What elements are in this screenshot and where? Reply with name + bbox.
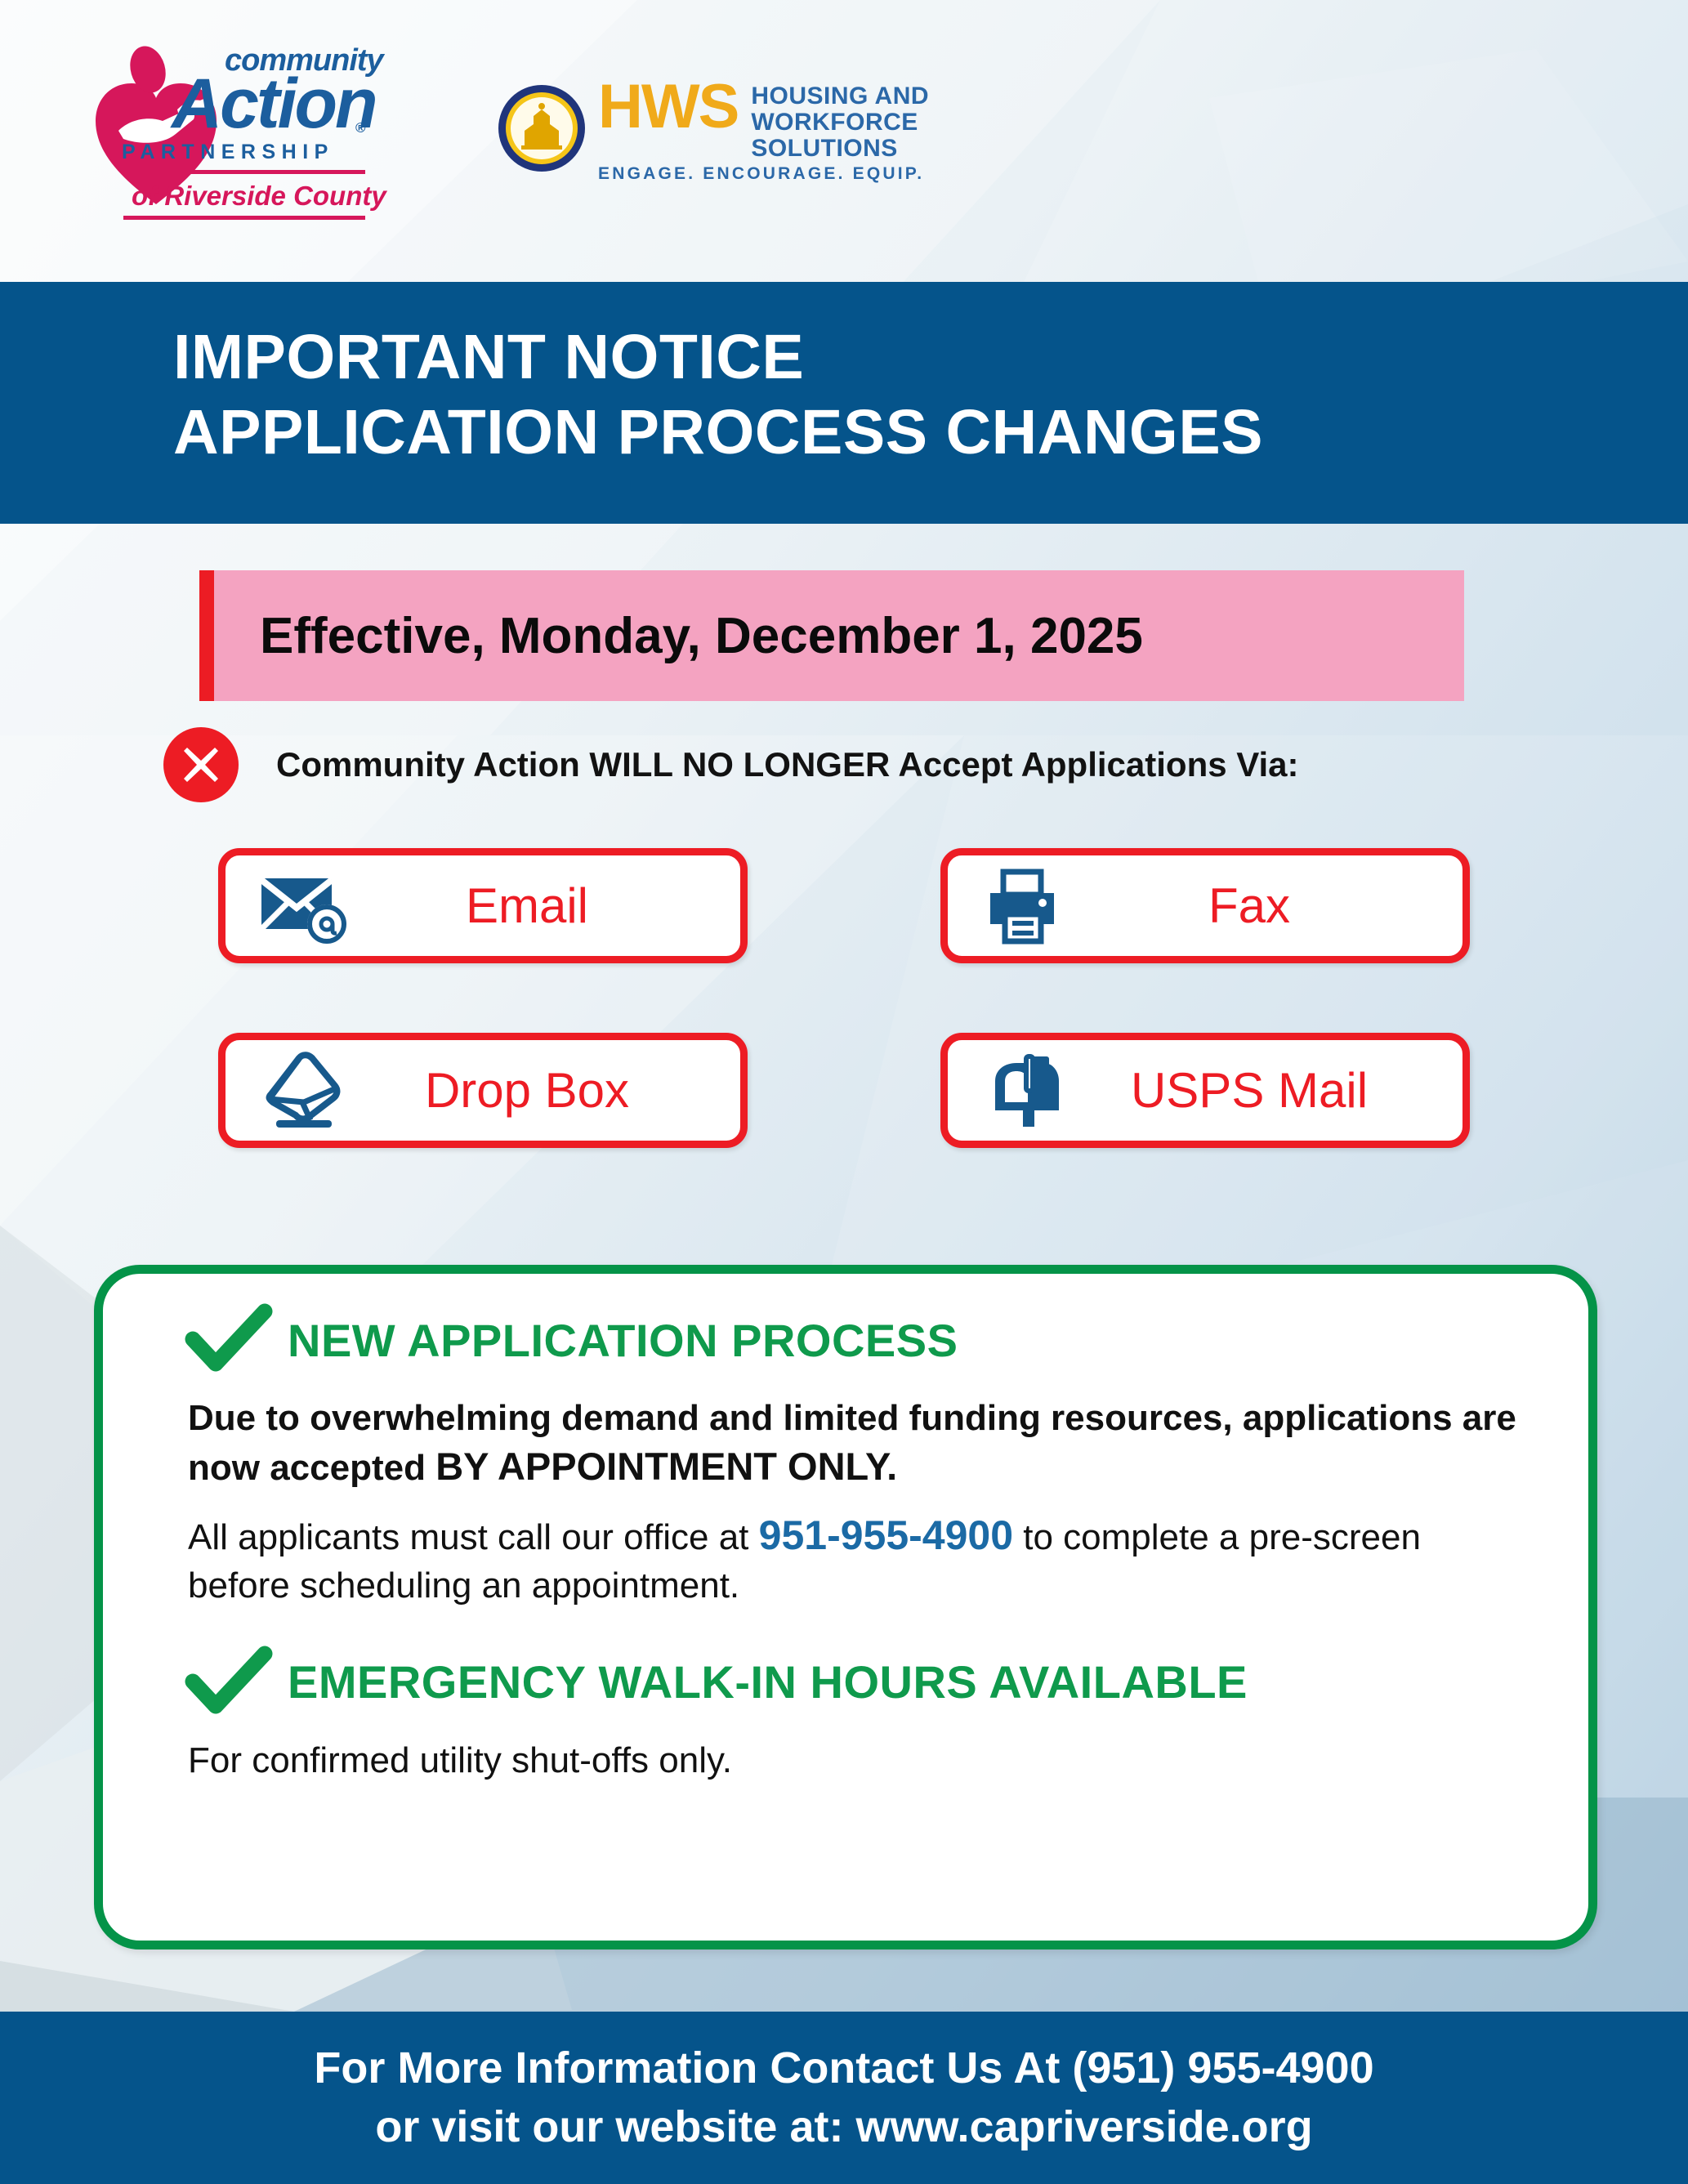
channel-row-1: Email Fax bbox=[0, 848, 1688, 963]
header: community Action ® PARTNERSHIP of Rivers… bbox=[0, 0, 1688, 282]
footer-line-2[interactable]: or visit our website at: www.capriversid… bbox=[375, 2098, 1312, 2156]
svg-text:PARTNERSHIP: PARTNERSHIP bbox=[122, 141, 334, 163]
disallowed-channels: Email Fax bbox=[0, 848, 1688, 1217]
no-longer-accept-text: Community Action WILL NO LONGER Accept A… bbox=[276, 745, 1299, 784]
printer-fax-icon bbox=[980, 867, 1072, 945]
housing-and-workforce-solutions-logo: HWS HOUSING AND WORKFORCE SOLUTIONS ENGA… bbox=[497, 80, 929, 184]
new-process-paragraph-2: All applicants must call our office at 9… bbox=[188, 1509, 1528, 1609]
channel-label: Drop Box bbox=[350, 1062, 704, 1119]
community-action-partnership-logo: community Action ® PARTNERSHIP of Rivers… bbox=[69, 31, 445, 248]
new-process-heading: NEW APPLICATION PROCESS bbox=[288, 1314, 958, 1367]
no-longer-accept-row: Community Action WILL NO LONGER Accept A… bbox=[163, 727, 1299, 802]
flyer-page: community Action ® PARTNERSHIP of Rivers… bbox=[0, 0, 1688, 2184]
channel-label: USPS Mail bbox=[1072, 1062, 1427, 1119]
footer-contact-bar: For More Information Contact Us At (951)… bbox=[0, 2012, 1688, 2184]
hws-words-line-1: HOUSING AND bbox=[751, 83, 929, 109]
mailbox-icon bbox=[980, 1052, 1072, 1129]
effective-date-accent-stripe bbox=[199, 570, 214, 701]
green-check-icon bbox=[185, 1303, 273, 1377]
svg-text:of Riverside County: of Riverside County bbox=[132, 181, 387, 211]
green-check-icon bbox=[185, 1646, 273, 1719]
envelope-at-icon bbox=[258, 867, 350, 945]
svg-text:®: ® bbox=[355, 120, 366, 136]
walk-in-heading-row: EMERGENCY WALK-IN HOURS AVAILABLE bbox=[185, 1646, 1588, 1719]
title-banner: IMPORTANT NOTICE APPLICATION PROCESS CHA… bbox=[0, 282, 1688, 524]
hws-mark: HWS bbox=[598, 80, 738, 133]
channel-card-drop-box[interactable]: Drop Box bbox=[218, 1033, 748, 1148]
hws-tagline: ENGAGE. ENCOURAGE. EQUIP. bbox=[598, 164, 929, 184]
mail-drop-box-icon bbox=[258, 1052, 350, 1129]
hws-words-line-2: WORKFORCE bbox=[751, 109, 929, 136]
channel-label: Email bbox=[350, 878, 704, 934]
channel-card-usps-mail[interactable]: USPS Mail bbox=[940, 1033, 1470, 1148]
riverside-county-seal-icon bbox=[497, 83, 587, 173]
new-process-heading-row: NEW APPLICATION PROCESS bbox=[185, 1303, 1588, 1377]
new-process-box: NEW APPLICATION PROCESS Due to overwhelm… bbox=[94, 1265, 1597, 1950]
new-process-paragraph-2-a: All applicants must call our office at bbox=[188, 1517, 759, 1557]
footer-line-1: For More Information Contact Us At (951)… bbox=[314, 2039, 1373, 2097]
hws-words-line-3: SOLUTIONS bbox=[751, 136, 929, 162]
appointment-only-emphasis: BY APPOINTMENT ONLY. bbox=[435, 1445, 897, 1488]
walk-in-body: For confirmed utility shut-offs only. bbox=[188, 1737, 1528, 1784]
new-process-paragraph-1: Due to overwhelming demand and limited f… bbox=[188, 1395, 1528, 1491]
office-phone-number[interactable]: 951-955-4900 bbox=[759, 1512, 1013, 1558]
red-x-circle-icon bbox=[163, 727, 239, 802]
channel-card-fax[interactable]: Fax bbox=[940, 848, 1470, 963]
channel-row-2: Drop Box USPS Mail bbox=[0, 1033, 1688, 1148]
page-title-line-2: APPLICATION PROCESS CHANGES bbox=[173, 396, 1263, 469]
page-title-line-1: IMPORTANT NOTICE bbox=[173, 321, 804, 394]
channel-label: Fax bbox=[1072, 878, 1427, 934]
effective-date-banner: Effective, Monday, December 1, 2025 bbox=[214, 570, 1464, 701]
svg-text:Action: Action bbox=[170, 65, 376, 143]
effective-date-text: Effective, Monday, December 1, 2025 bbox=[260, 607, 1143, 665]
walk-in-heading: EMERGENCY WALK-IN HOURS AVAILABLE bbox=[288, 1655, 1248, 1708]
hws-words: HOUSING AND WORKFORCE SOLUTIONS bbox=[751, 83, 929, 161]
channel-card-email[interactable]: Email bbox=[218, 848, 748, 963]
